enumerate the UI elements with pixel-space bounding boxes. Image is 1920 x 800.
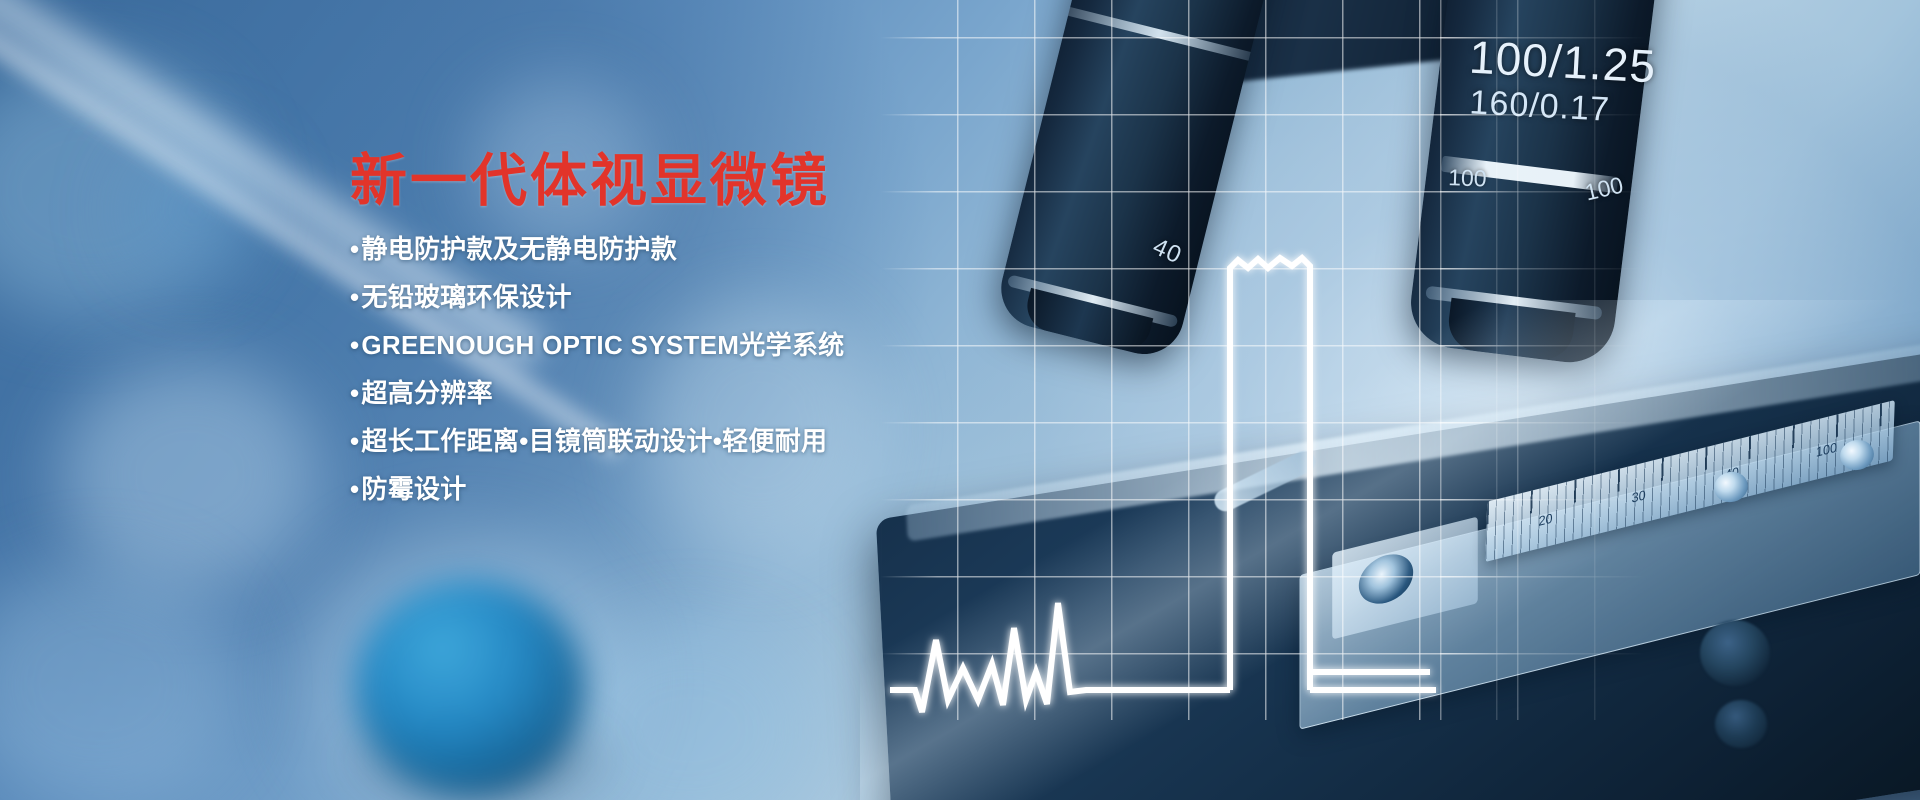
bullet-marker: •	[350, 330, 359, 360]
list-item: •静电防护款及无静电防护款	[350, 236, 1050, 262]
bullet-marker: •	[350, 474, 359, 504]
feature-label: 无铅玻璃环保设计	[361, 282, 571, 312]
bullet-marker: •	[350, 282, 359, 312]
banner-copy: 新一代体视显微镜 •静电防护款及无静电防护款 •无铅玻璃环保设计 •GREENO…	[350, 150, 1050, 524]
page-title: 新一代体视显微镜	[350, 150, 1050, 214]
product-banner: 20 30 40 100 40 100/1.25 160/0.17 100 10…	[0, 0, 1920, 800]
bullet-marker: •	[350, 234, 359, 264]
list-item: •超长工作距离•目镜筒联动设计•轻便耐用	[350, 428, 1050, 454]
feature-label: 超高分辨率	[361, 378, 493, 408]
feature-label: 超长工作距离•目镜筒联动设计•轻便耐用	[361, 426, 827, 456]
list-item: •无铅玻璃环保设计	[350, 284, 1050, 310]
bullet-marker: •	[350, 378, 359, 408]
feature-label: GREENOUGH OPTIC SYSTEM光学系统	[361, 330, 844, 360]
list-item: •超高分辨率	[350, 380, 1050, 406]
stage-adjustment-knob	[1700, 620, 1770, 686]
feature-label: 静电防护款及无静电防护款	[361, 234, 677, 264]
graph-grid-overlay-right	[1440, 0, 1680, 720]
bullet-marker: •	[350, 426, 359, 456]
list-item: •防霉设计	[350, 476, 1050, 502]
feature-label: 防霉设计	[361, 474, 466, 504]
list-item: •GREENOUGH OPTIC SYSTEM光学系统	[350, 332, 1050, 358]
feature-list: •静电防护款及无静电防护款 •无铅玻璃环保设计 •GREENOUGH OPTIC…	[350, 236, 1050, 502]
stage-adjustment-knob	[1715, 700, 1767, 748]
